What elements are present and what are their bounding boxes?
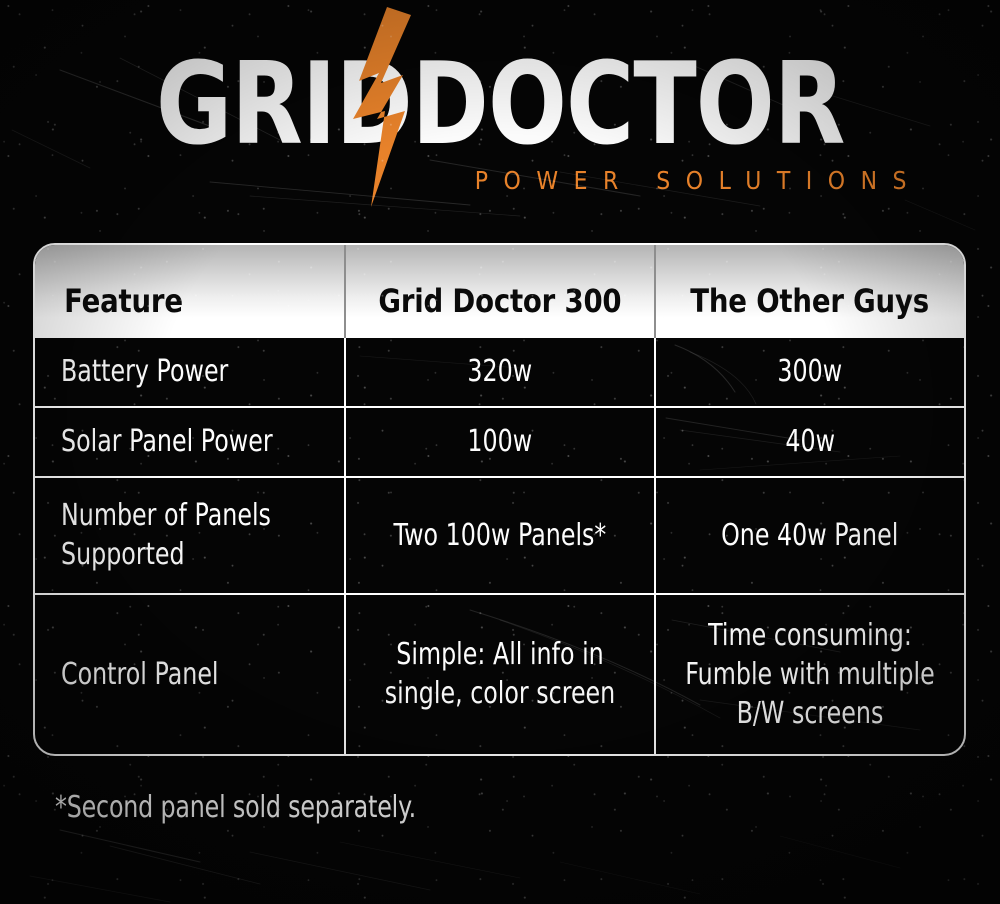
cell-text: 100w <box>468 422 533 461</box>
comparison-table: Feature Grid Doctor 300 The Other Guys B… <box>35 245 964 754</box>
cell-text: Number of Panels Supported <box>61 496 298 575</box>
row-feature-label: Solar Panel Power <box>35 407 345 477</box>
column-header-the-other-guys: The Other Guys <box>655 245 964 337</box>
cell-text: Solar Panel Power <box>61 422 273 461</box>
logo-wordmark-row: GRIDDOCTOR <box>0 52 1000 156</box>
cell-text: Battery Power <box>61 352 228 391</box>
brand-logo: GRIDDOCTOR POWER SOLUTIONS <box>0 52 1000 194</box>
row-value-the-other-guys: 300w <box>655 337 964 407</box>
comparison-infographic: GRIDDOCTOR POWER SOLUTIONS Feature Grid … <box>0 0 1000 904</box>
cell-text: Control Panel <box>61 655 219 694</box>
cell-text: Time consuming: Fumble with multiple B/W… <box>685 616 935 734</box>
cell-text: 40w <box>785 422 835 461</box>
row-value-the-other-guys: 40w <box>655 407 964 477</box>
column-header-feature-label: Feature <box>64 282 183 319</box>
row-feature-label: Number of Panels Supported <box>35 477 345 594</box>
footnote-text: *Second panel sold separately. <box>55 790 416 825</box>
cell-text: 300w <box>778 352 843 391</box>
row-value-grid-doctor-300: 100w <box>345 407 655 477</box>
table-row: Battery Power 320w 300w <box>35 337 964 407</box>
logo-wordmark-text: GRIDDOCTOR <box>156 47 845 160</box>
table-body: Battery Power 320w 300w Solar Panel Powe… <box>35 337 964 754</box>
column-header-feature: Feature <box>35 245 345 337</box>
comparison-table-container: Feature Grid Doctor 300 The Other Guys B… <box>33 243 966 756</box>
row-value-grid-doctor-300: Simple: All info in single, color screen <box>345 594 655 754</box>
column-header-the-other-guys-label: The Other Guys <box>691 282 930 319</box>
row-value-grid-doctor-300: 320w <box>345 337 655 407</box>
row-value-the-other-guys: One 40w Panel <box>655 477 964 594</box>
column-header-grid-doctor-300: Grid Doctor 300 <box>345 245 655 337</box>
brand-tagline: POWER SOLUTIONS <box>0 168 1000 196</box>
cell-text: Two 100w Panels* <box>394 516 607 555</box>
column-header-grid-doctor-300-label: Grid Doctor 300 <box>378 282 621 319</box>
table-header-row: Feature Grid Doctor 300 The Other Guys <box>35 245 964 337</box>
cell-text: Simple: All info in single, color screen <box>375 635 625 714</box>
row-feature-label: Battery Power <box>35 337 345 407</box>
table-header: Feature Grid Doctor 300 The Other Guys <box>35 245 964 337</box>
cell-text: One 40w Panel <box>721 516 898 555</box>
table-row: Control Panel Simple: All info in single… <box>35 594 964 754</box>
lightning-bolt-icon <box>331 7 449 207</box>
row-value-the-other-guys: Time consuming: Fumble with multiple B/W… <box>655 594 964 754</box>
table-row: Solar Panel Power 100w 40w <box>35 407 964 477</box>
row-feature-label: Control Panel <box>35 594 345 754</box>
table-row: Number of Panels Supported Two 100w Pane… <box>35 477 964 594</box>
cell-text: 320w <box>468 352 533 391</box>
row-value-grid-doctor-300: Two 100w Panels* <box>345 477 655 594</box>
